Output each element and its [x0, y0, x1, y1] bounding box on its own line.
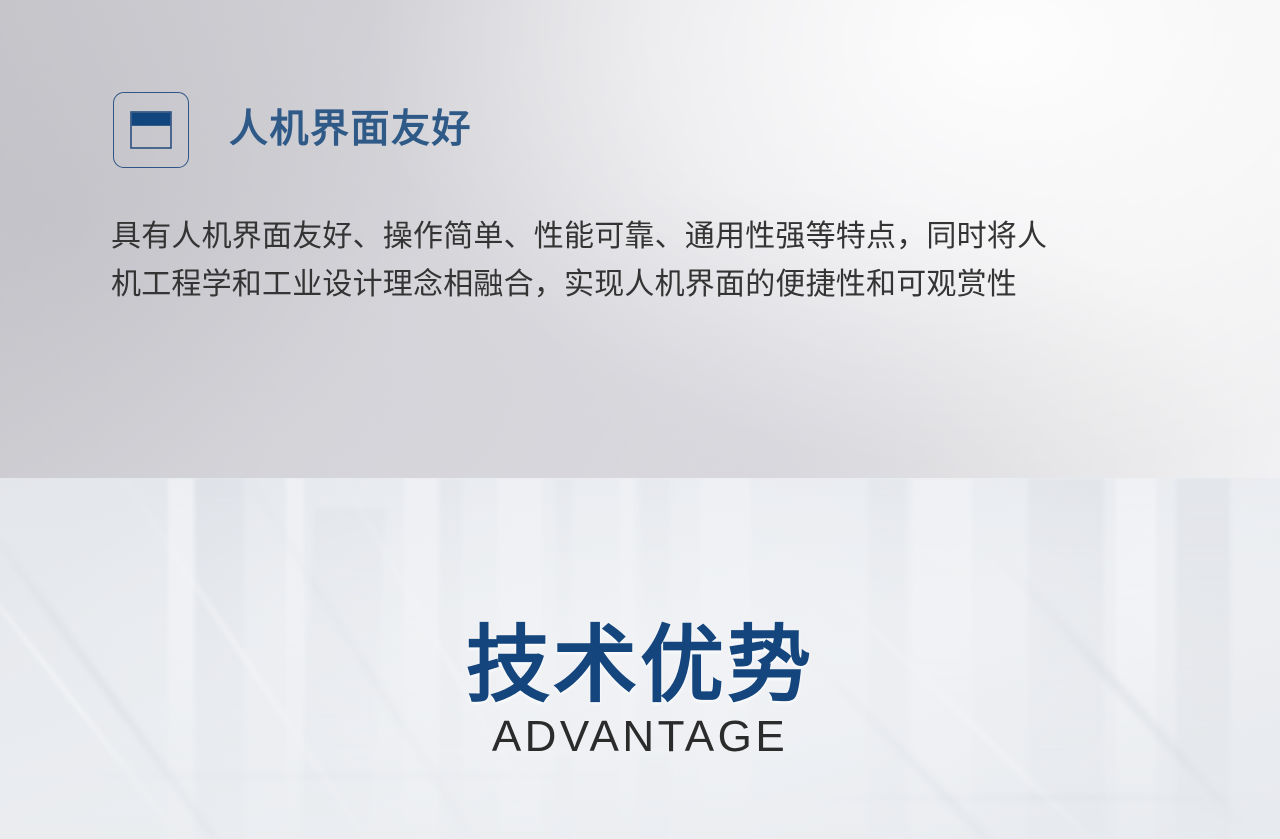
advantage-heading-group: 技术优势 ADVANTAGE	[0, 478, 1280, 839]
advantage-heading-en: ADVANTAGE	[492, 715, 788, 759]
feature-title: 人机界面友好	[229, 110, 472, 149]
advantage-section: 技术优势 ADVANTAGE	[0, 478, 1280, 839]
feature-description: 具有人机界面友好、操作简单、性能可靠、通用性强等特点，同时将人 机工程学和工业设…	[111, 213, 1181, 309]
advantage-heading-cn: 技术优势	[466, 623, 814, 707]
feature-section: 人机界面友好 具有人机界面友好、操作简单、性能可靠、通用性强等特点，同时将人 机…	[0, 0, 1280, 478]
feature-header: 人机界面友好	[113, 78, 472, 182]
hmi-screen-icon	[113, 92, 189, 168]
feature-description-line-2: 机工程学和工业设计理念相融合，实现人机界面的便捷性和可观赏性	[111, 261, 1181, 309]
product-detail-page: 人机界面友好 具有人机界面友好、操作简单、性能可靠、通用性强等特点，同时将人 机…	[0, 0, 1280, 839]
feature-description-line-1: 具有人机界面友好、操作简单、性能可靠、通用性强等特点，同时将人	[111, 213, 1181, 261]
